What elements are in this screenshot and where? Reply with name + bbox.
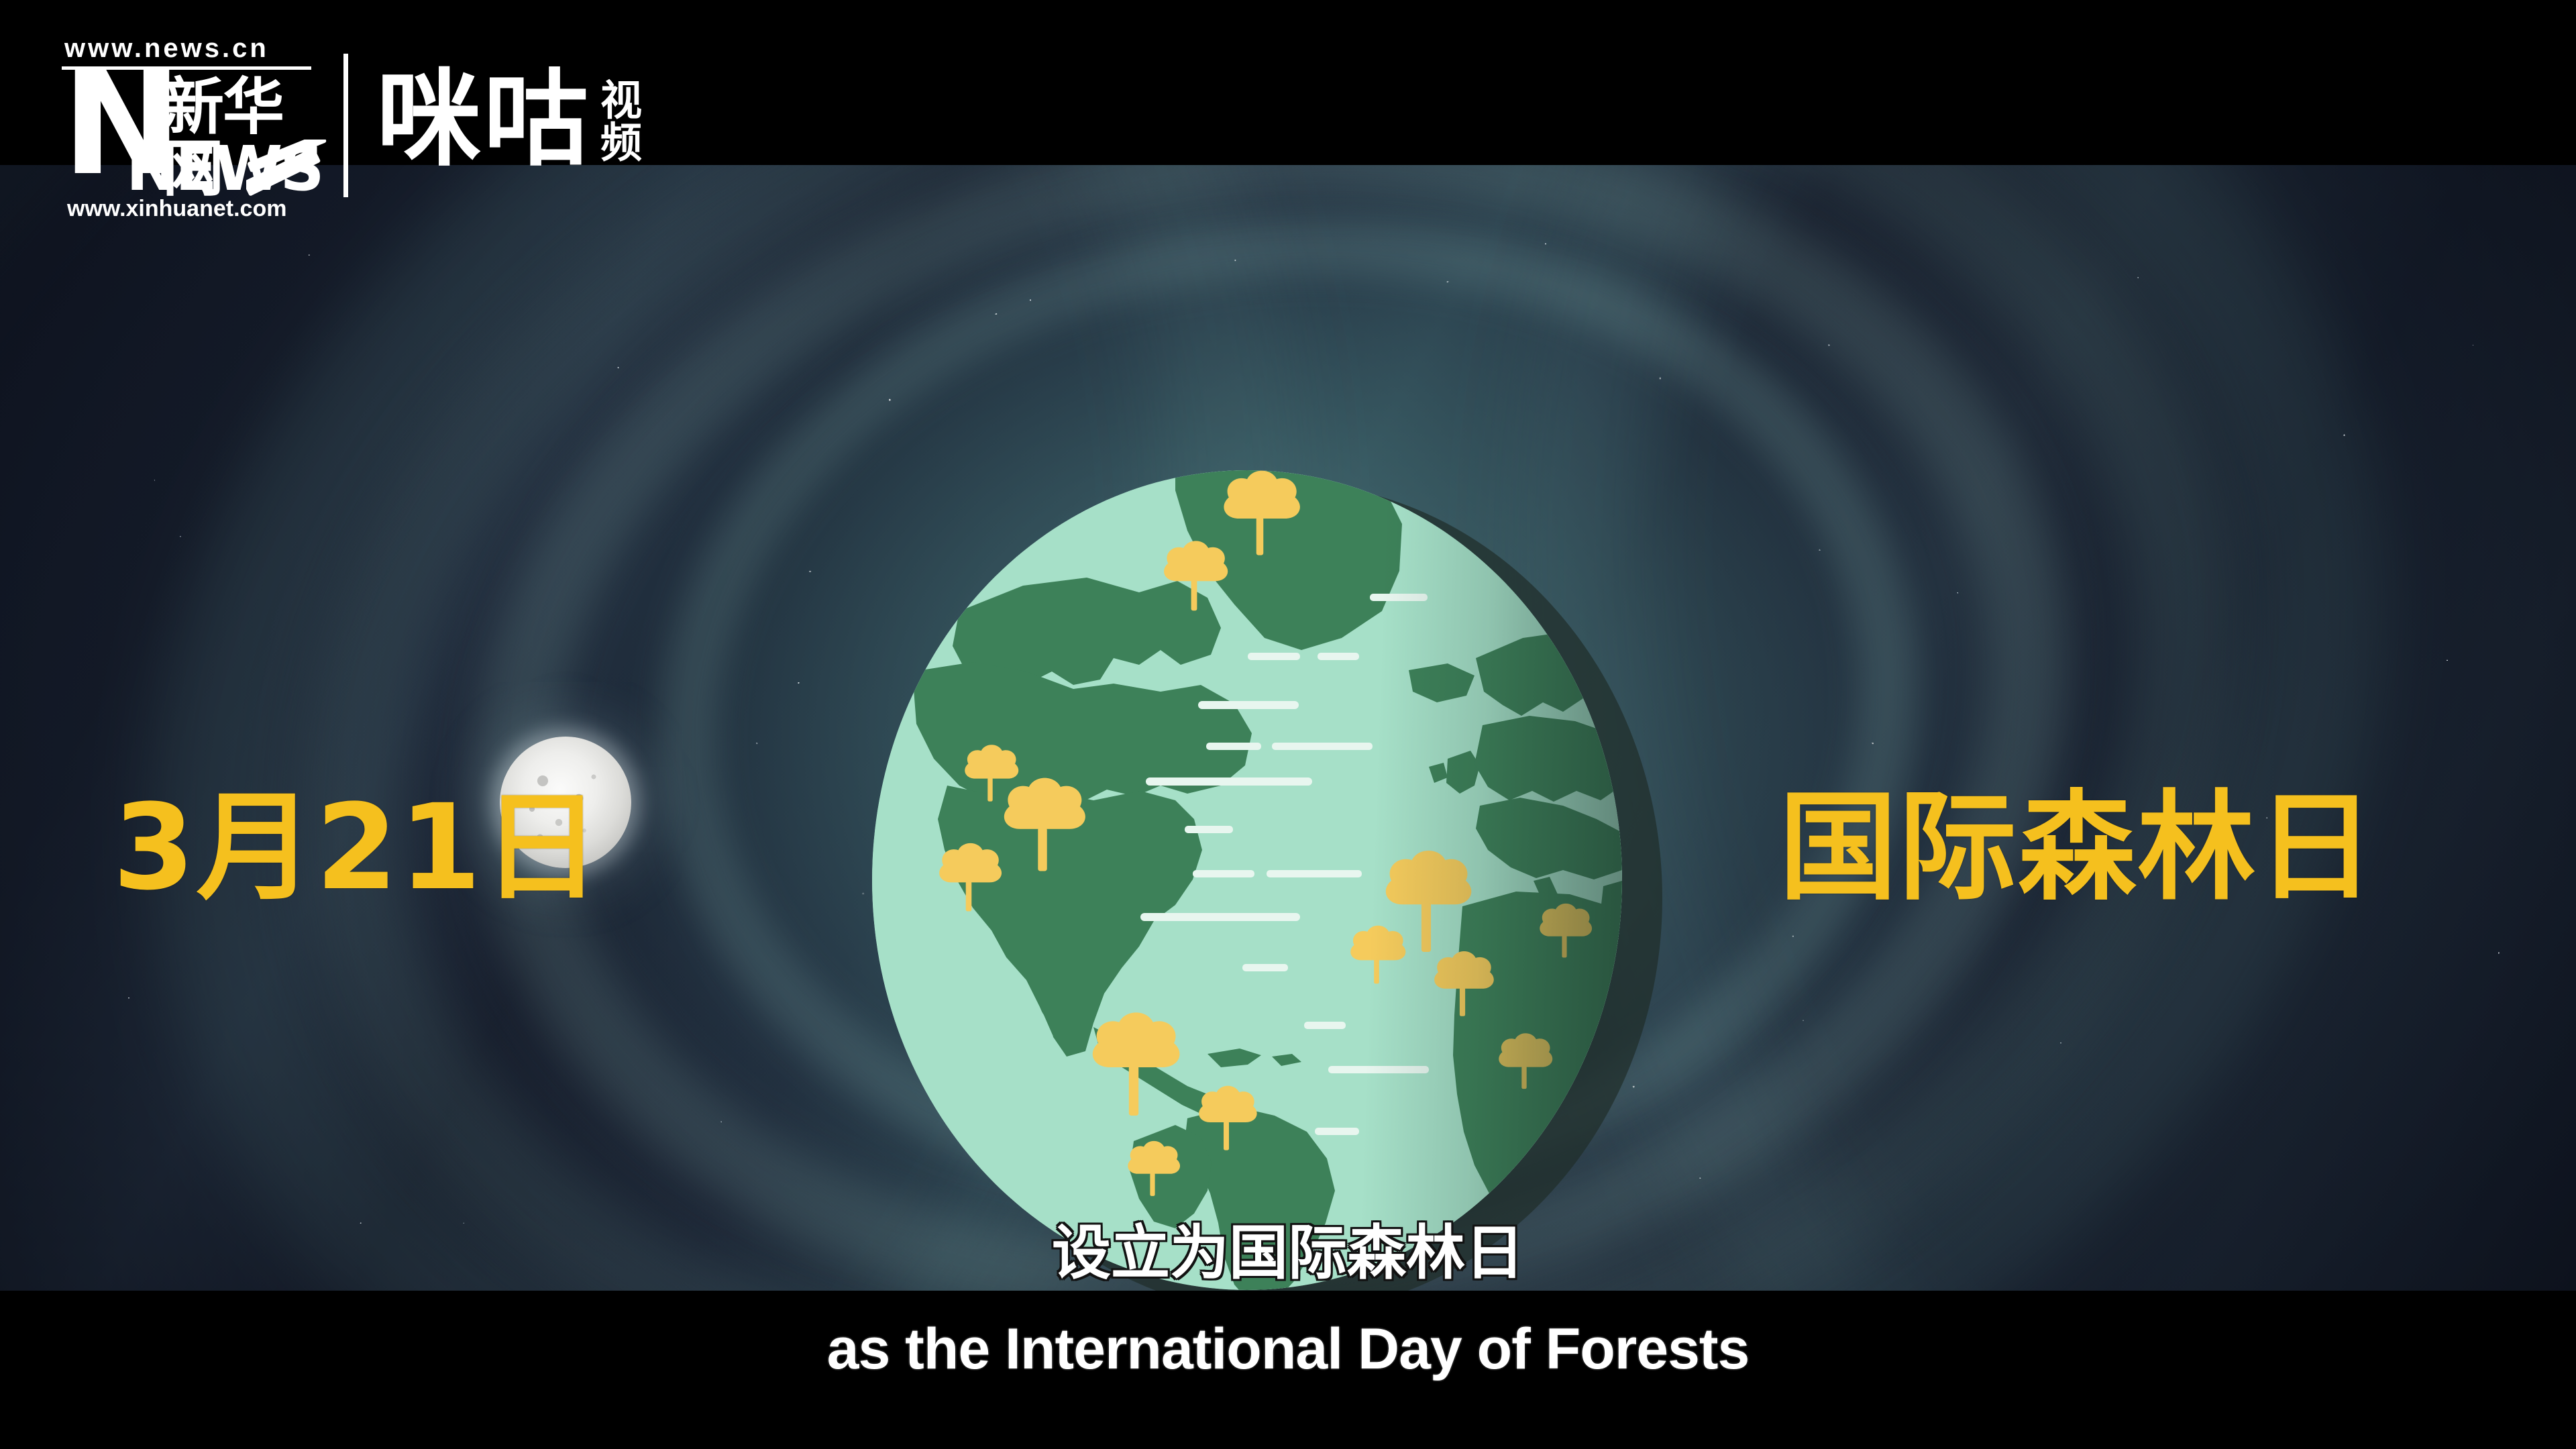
title-headline: 国际森林日 [1779, 789, 2376, 907]
video-content-area: 3月21日 国际森林日 设立为国际森林日 [0, 165, 2576, 1291]
subtitle-chinese-overlay: 设立为国际森林日 [0, 1224, 2576, 1283]
video-player-frame: 3月21日 国际森林日 设立为国际森林日 设立为国际森林日 as the Int… [0, 0, 2576, 1449]
logo-divider [343, 54, 348, 197]
migu-suffix-line2: 频 [600, 121, 642, 164]
migu-video-logo: 咪咕 视 频 [376, 67, 642, 172]
earth-map-svg [872, 470, 1622, 1290]
earth-disc [872, 470, 1622, 1290]
migu-video-suffix: 视 频 [600, 79, 642, 164]
earth-globe [872, 470, 1662, 1291]
subtitle-english: as the International Day of Forests [0, 1320, 2576, 1378]
date-headline: 3月21日 [113, 789, 602, 907]
migu-suffix-line1: 视 [600, 79, 642, 121]
swoosh-icon [246, 140, 327, 204]
xinhua-logo-mark: N 新华网 NEWS [62, 72, 317, 199]
xinhua-news-logo: www.news.cn N 新华网 NEWS www.xinhuanet.com [62, 35, 317, 222]
migu-name-cn: 咪咕 [376, 67, 591, 172]
channel-logo-group: www.news.cn N 新华网 NEWS www.xinhuanet.com… [62, 35, 642, 229]
